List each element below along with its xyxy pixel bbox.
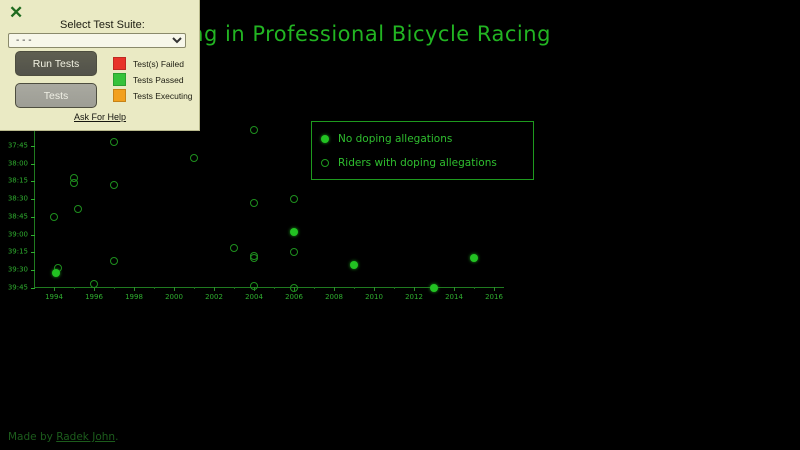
x-tick-minor <box>314 287 315 289</box>
x-tick-label: 2012 <box>405 294 423 301</box>
tests-button[interactable]: Tests <box>15 83 97 108</box>
x-tick-mark <box>494 287 495 291</box>
status-label: Tests Executing <box>133 91 193 101</box>
x-tick-mark <box>214 287 215 291</box>
x-tick-minor <box>394 287 395 289</box>
x-tick-label: 2010 <box>365 294 383 301</box>
data-point[interactable] <box>110 257 118 265</box>
credit-suffix: . <box>115 431 118 443</box>
x-tick-minor <box>114 287 115 289</box>
x-tick-label: 2006 <box>285 294 303 301</box>
x-tick-minor <box>274 287 275 289</box>
chart-legend: No doping allegations Riders with doping… <box>311 121 534 180</box>
legend-label: No doping allegations <box>338 133 452 145</box>
data-point[interactable] <box>250 254 258 262</box>
data-point[interactable] <box>110 181 118 189</box>
y-tick-label: 39:45 <box>8 285 28 292</box>
x-tick-label: 2004 <box>245 294 263 301</box>
data-point[interactable] <box>290 228 298 236</box>
y-tick-label: 39:15 <box>8 249 28 256</box>
data-point[interactable] <box>190 154 198 162</box>
test-suite-select[interactable]: - - - <box>8 33 186 48</box>
data-point[interactable] <box>290 248 298 256</box>
x-tick-minor <box>154 287 155 289</box>
y-tick-mark <box>31 252 35 253</box>
x-tick-label: 2014 <box>445 294 463 301</box>
page-title: Doping in Professional Bicycle Racing <box>140 22 551 46</box>
x-tick-minor <box>234 287 235 289</box>
y-tick-mark <box>31 217 35 218</box>
credit-prefix: Made by <box>8 431 56 443</box>
y-tick-mark <box>31 146 35 147</box>
data-point[interactable] <box>290 284 298 292</box>
test-suite-panel: ✕ Select Test Suite: - - - Run Tests Tes… <box>0 0 200 131</box>
data-point[interactable] <box>230 244 238 252</box>
y-tick-mark <box>31 288 35 289</box>
data-point[interactable] <box>52 269 60 277</box>
credit-text: Made by Radek John. <box>8 431 118 443</box>
y-tick-mark <box>31 181 35 182</box>
data-point[interactable] <box>350 261 358 269</box>
y-tick-label: 37:45 <box>8 142 28 149</box>
y-axis <box>34 128 35 288</box>
x-tick-label: 1996 <box>85 294 103 301</box>
data-point[interactable] <box>470 254 478 262</box>
x-tick-mark <box>374 287 375 291</box>
y-tick-mark <box>31 199 35 200</box>
status-tests-failed: Test(s) Failed <box>113 57 184 70</box>
x-tick-label: 2008 <box>325 294 343 301</box>
y-tick-label: 38:15 <box>8 178 28 185</box>
data-point[interactable] <box>430 284 438 292</box>
y-tick-label: 38:00 <box>8 160 28 167</box>
y-tick-mark <box>31 235 35 236</box>
legend-label: Riders with doping allegations <box>338 157 497 169</box>
data-point[interactable] <box>250 126 258 134</box>
y-tick-label: 38:30 <box>8 196 28 203</box>
x-tick-mark <box>414 287 415 291</box>
author-link[interactable]: Radek John <box>56 431 115 443</box>
x-tick-minor <box>194 287 195 289</box>
x-tick-minor <box>474 287 475 289</box>
y-tick-mark <box>31 164 35 165</box>
run-tests-button[interactable]: Run Tests <box>15 51 97 76</box>
status-tests-passed: Tests Passed <box>113 73 184 86</box>
x-tick-label: 2000 <box>165 294 183 301</box>
data-point[interactable] <box>70 179 78 187</box>
status-swatch-failed <box>113 57 126 70</box>
status-swatch-passed <box>113 73 126 86</box>
x-tick-mark <box>174 287 175 291</box>
data-point[interactable] <box>110 138 118 146</box>
y-tick-label: 39:30 <box>8 267 28 274</box>
x-tick-label: 2002 <box>205 294 223 301</box>
data-point[interactable] <box>290 195 298 203</box>
y-tick-mark <box>31 270 35 271</box>
hollow-circle-icon <box>321 159 329 167</box>
data-point[interactable] <box>74 205 82 213</box>
x-tick-label: 2016 <box>485 294 503 301</box>
legend-item-no-doping: No doping allegations <box>321 133 452 145</box>
y-tick-label: 39:00 <box>8 231 28 238</box>
suite-label: Select Test Suite: <box>60 19 145 31</box>
x-tick-mark <box>454 287 455 291</box>
x-tick-minor <box>74 287 75 289</box>
filled-circle-icon <box>321 135 329 143</box>
y-tick-label: 38:45 <box>8 213 28 220</box>
status-tests-executing: Tests Executing <box>113 89 193 102</box>
status-label: Test(s) Failed <box>133 59 184 69</box>
data-point[interactable] <box>90 280 98 288</box>
close-icon[interactable]: ✕ <box>9 4 23 21</box>
x-tick-label: 1994 <box>45 294 63 301</box>
x-tick-mark <box>134 287 135 291</box>
x-tick-minor <box>354 287 355 289</box>
status-label: Tests Passed <box>133 75 184 85</box>
status-swatch-executing <box>113 89 126 102</box>
x-tick-mark <box>54 287 55 291</box>
data-point[interactable] <box>250 282 258 290</box>
ask-for-help-link[interactable]: Ask For Help <box>74 112 126 122</box>
data-point[interactable] <box>250 199 258 207</box>
data-point[interactable] <box>50 213 58 221</box>
legend-item-doping: Riders with doping allegations <box>321 157 497 169</box>
x-tick-mark <box>334 287 335 291</box>
x-tick-label: 1998 <box>125 294 143 301</box>
